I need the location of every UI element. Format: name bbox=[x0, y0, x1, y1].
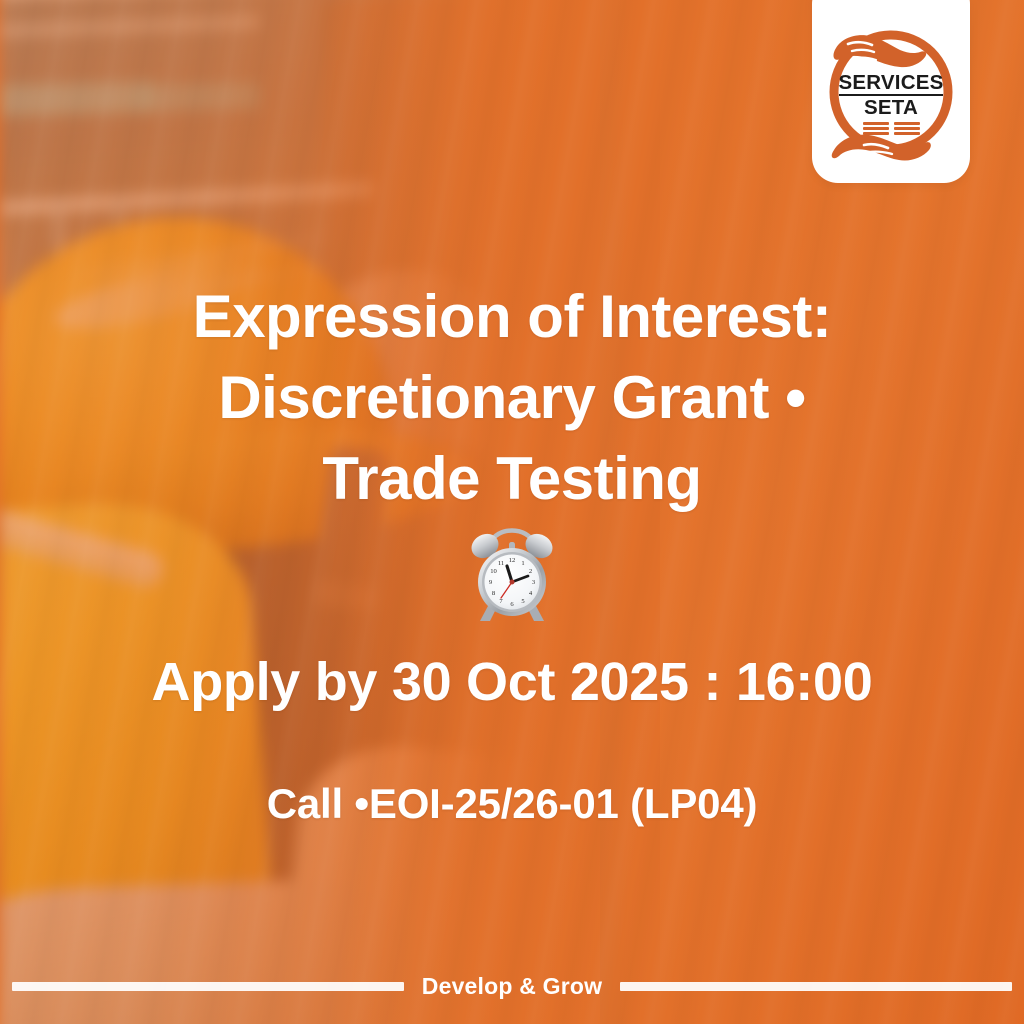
logo-wordmark: SERVICES SETA bbox=[812, 72, 970, 118]
footer: Develop & Grow bbox=[0, 966, 1024, 1006]
logo-dash bbox=[863, 122, 889, 125]
seta-eoi-poster: SERVICES SETA Expression of Interest: bbox=[0, 0, 1024, 1024]
svg-text:2: 2 bbox=[529, 568, 532, 575]
logo-dash-marks bbox=[812, 122, 970, 135]
footer-tagline: Develop & Grow bbox=[422, 973, 602, 1000]
logo-dash bbox=[863, 127, 889, 130]
logo-inner: SERVICES SETA bbox=[812, 0, 970, 183]
logo-dash bbox=[894, 127, 920, 130]
footer-rule-left bbox=[12, 982, 404, 991]
logo-dash-group-right bbox=[894, 122, 920, 135]
call-reference-text: Call •EOI-25/26-01 (LP04) bbox=[0, 778, 1024, 830]
logo-dash bbox=[894, 132, 920, 135]
headline-line-1: Expression of Interest: bbox=[0, 276, 1024, 357]
logo-wordmark-line1: SERVICES bbox=[839, 72, 944, 96]
logo-dash bbox=[863, 132, 889, 135]
svg-text:11: 11 bbox=[498, 560, 504, 567]
svg-text:10: 10 bbox=[490, 568, 497, 575]
services-seta-logo[interactable]: SERVICES SETA bbox=[812, 0, 970, 183]
headline-line-3: Trade Testing bbox=[0, 438, 1024, 519]
logo-wordmark-line2: SETA bbox=[812, 97, 970, 118]
page-title: Expression of Interest: Discretionary Gr… bbox=[0, 276, 1024, 519]
logo-dash bbox=[894, 122, 920, 125]
svg-text:12: 12 bbox=[509, 557, 516, 564]
headline-line-2: Discretionary Grant • bbox=[0, 357, 1024, 438]
deadline-text: Apply by 30 Oct 2025 : 16:00 bbox=[0, 650, 1024, 714]
alarm-clock-icon: 12 1 2 3 4 5 6 7 8 9 10 11 bbox=[0, 518, 1024, 624]
logo-dash-group-left bbox=[863, 122, 889, 135]
footer-rule-right bbox=[620, 982, 1012, 991]
svg-text:1: 1 bbox=[521, 560, 524, 567]
